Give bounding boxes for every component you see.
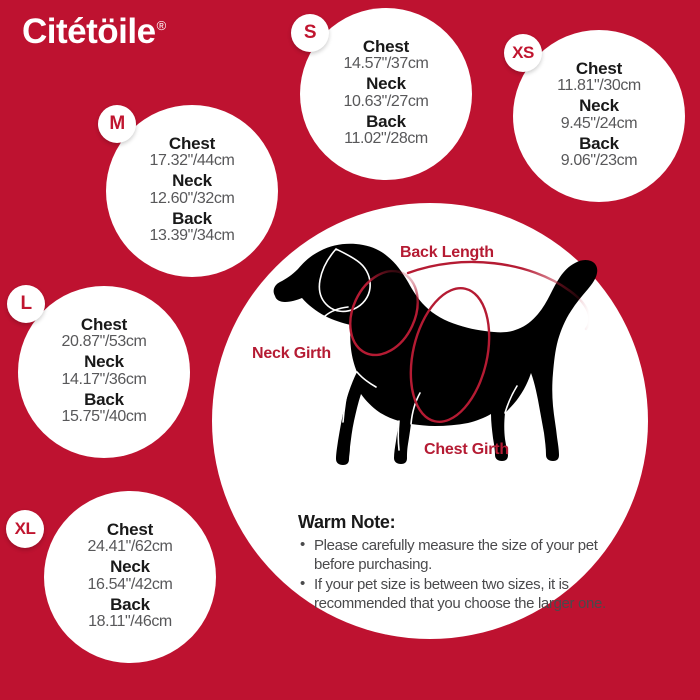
measure-value: 11.81"/30cm <box>557 78 641 94</box>
measure-value: 14.17"/36cm <box>62 372 147 388</box>
measure-label: Neck <box>150 172 235 189</box>
measure-row-chest: Chest 24.41"/62cm <box>88 521 173 559</box>
size-chart-canvas: Citétöile® <box>0 0 700 700</box>
size-badge-m[interactable]: M <box>98 105 136 143</box>
size-bubble-l: Chest 20.87"/53cm Neck 14.17"/36cm Back … <box>18 286 190 458</box>
brand-logo: Citétöile® <box>22 14 166 49</box>
size-badge-l[interactable]: L <box>7 285 45 323</box>
measure-row-neck: Neck 9.45"/24cm <box>561 97 637 135</box>
chest-girth-label: Chest Girth <box>424 441 509 459</box>
measure-row-neck: Neck 16.54"/42cm <box>88 558 173 596</box>
measure-value: 16.54"/42cm <box>88 577 173 593</box>
measure-row-back: Back 9.06"/23cm <box>561 135 637 173</box>
measure-label: Back <box>62 391 147 408</box>
measure-label: Back <box>561 135 637 152</box>
measure-row-chest: Chest 14.57"/37cm <box>344 38 429 76</box>
warm-note-list: Please carefully measure the size of you… <box>298 537 628 613</box>
measure-label: Chest <box>62 316 147 333</box>
size-badge-xl[interactable]: XL <box>6 510 44 548</box>
measure-row-back: Back 11.02"/28cm <box>344 113 428 151</box>
measure-value: 14.57"/37cm <box>344 56 429 72</box>
registered-trademark-icon: ® <box>157 18 166 33</box>
measure-label: Chest <box>88 521 173 538</box>
measure-row-chest: Chest 20.87"/53cm <box>62 316 147 354</box>
measure-row-neck: Neck 10.63"/27cm <box>344 75 429 113</box>
measure-label: Neck <box>88 558 173 575</box>
measure-value: 24.41"/62cm <box>88 539 173 555</box>
measure-label: Chest <box>344 38 429 55</box>
measure-value: 17.32"/44cm <box>150 153 235 169</box>
measure-row-back: Back 18.11"/46cm <box>88 596 172 634</box>
measure-value: 9.06"/23cm <box>561 153 637 169</box>
measure-value: 18.11"/46cm <box>88 614 172 630</box>
measure-label: Neck <box>561 97 637 114</box>
size-bubble-xl: Chest 24.41"/62cm Neck 16.54"/42cm Back … <box>44 491 216 663</box>
neck-girth-label: Neck Girth <box>252 345 331 363</box>
measure-label: Neck <box>344 75 429 92</box>
warm-note-item: If your pet size is between two sizes, i… <box>314 576 628 613</box>
measure-label: Chest <box>150 135 235 152</box>
measure-row-chest: Chest 11.81"/30cm <box>557 60 641 98</box>
measure-label: Chest <box>557 60 641 77</box>
measure-row-neck: Neck 14.17"/36cm <box>62 353 147 391</box>
measure-value: 15.75"/40cm <box>62 409 147 425</box>
measure-label: Back <box>88 596 172 613</box>
measure-value: 10.63"/27cm <box>344 94 429 110</box>
warm-note: Warm Note: Please carefully measure the … <box>298 512 628 615</box>
measure-row-back: Back 15.75"/40cm <box>62 391 147 429</box>
measure-label: Neck <box>62 353 147 370</box>
back-length-label: Back Length <box>400 244 494 262</box>
size-badge-xs[interactable]: XS <box>504 34 542 72</box>
warm-note-item: Please carefully measure the size of you… <box>314 537 628 574</box>
measure-value: 11.02"/28cm <box>344 131 428 147</box>
measure-value: 20.87"/53cm <box>62 334 147 350</box>
warm-note-title: Warm Note: <box>298 512 628 533</box>
measure-label: Back <box>344 113 428 130</box>
measure-value: 9.45"/24cm <box>561 116 637 132</box>
brand-name: Citétöile <box>22 12 156 51</box>
size-badge-s[interactable]: S <box>291 14 329 52</box>
measure-row-chest: Chest 17.32"/44cm <box>150 135 235 173</box>
